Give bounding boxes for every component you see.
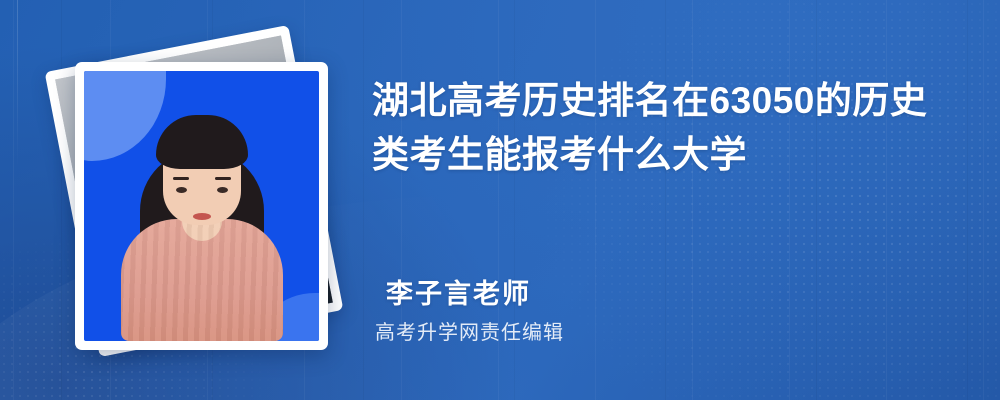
author-name: 李子言老师 <box>386 272 531 311</box>
banner-text-column: 湖北高考历史排名在63050的历史类考生能报考什么大学 李子言老师 高考升学网责… <box>372 0 972 400</box>
figure-eye-left <box>176 187 187 193</box>
background-edge-line <box>17 0 18 168</box>
figure-brow-left <box>173 177 189 180</box>
portrait-figure <box>84 109 319 341</box>
figure-eye-right <box>217 187 228 193</box>
figure-hair-front <box>156 115 248 169</box>
article-header-banner: 湖北高考历史排名在63050的历史类考生能报考什么大学 李子言老师 高考升学网责… <box>0 0 1000 400</box>
figure-brow-right <box>215 177 231 180</box>
figure-lips <box>193 213 211 220</box>
portrait-photo <box>84 71 319 341</box>
figure-dress-texture <box>121 219 283 341</box>
author-role: 高考升学网责任编辑 <box>375 316 564 345</box>
page-title: 湖北高考历史排名在63050的历史类考生能报考什么大学 <box>372 74 947 183</box>
portrait-photo-frame <box>75 62 328 350</box>
photo-stack <box>48 40 348 360</box>
